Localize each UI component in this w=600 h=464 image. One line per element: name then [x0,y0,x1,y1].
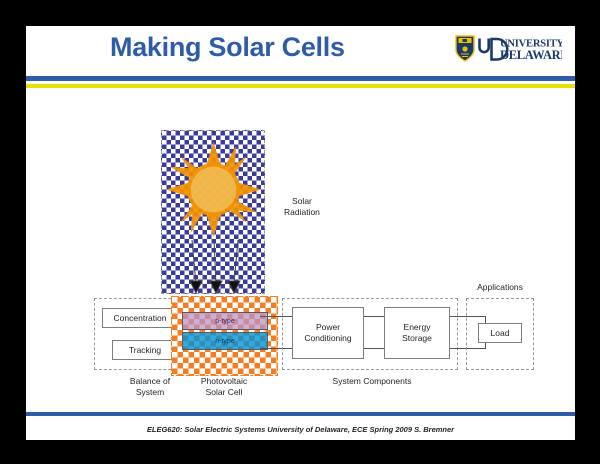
wire-pc-bottom [364,348,386,349]
load-box[interactable]: Load [478,323,522,343]
energy-storage-box[interactable]: Energy Storage [384,307,450,359]
photovoltaic-cell-line-2: Solar Cell [172,387,276,398]
concentration-box[interactable]: Concentration [102,308,178,328]
shield-icon [456,36,474,61]
system-components-caption: System Components [302,376,442,387]
photovoltaic-cell-line-1: Photovoltaic [172,376,276,387]
concentration-label: Concentration [114,313,167,324]
n-type-label: n-type [215,338,234,345]
tracking-label: Tracking [129,345,161,356]
tracking-box[interactable]: Tracking [112,340,178,360]
load-label: Load [491,328,510,339]
logo-line-2: DELAWARE [500,48,562,62]
power-conditioning-line-1: Power [316,322,340,332]
footer-text: ELEG620: Solar Electric Systems Universi… [26,425,575,434]
solar-system-diagram: Solar Radiation Concentration Track [26,92,575,402]
power-conditioning-label: Power Conditioning [304,322,351,344]
radiation-arrows [172,240,258,295]
slide-header: Making Solar Cells UNIVERSITY of [26,26,575,72]
footer-divider [26,412,575,416]
solar-radiation-line-2: Radiation [284,207,320,218]
solar-radiation-label: Solar Radiation [284,196,320,218]
wire-pc-top [364,316,386,317]
page-title: Making Solar Cells [110,32,345,63]
p-type-layer[interactable]: p-type [182,312,268,330]
solar-radiation-line-1: Solar [284,196,320,207]
presentation-slide: Making Solar Cells UNIVERSITY of [26,26,575,440]
applications-caption: Applications [462,282,538,293]
energy-storage-line-1: Energy [404,322,431,332]
energy-storage-line-2: Storage [402,333,432,343]
photovoltaic-cell-caption: Photovoltaic Solar Cell [172,376,276,398]
header-divider-gold [26,84,575,88]
university-of-delaware-logo: UNIVERSITY of DELAWARE [454,33,562,66]
energy-storage-label: Energy Storage [402,322,432,344]
n-type-layer[interactable]: n-type [182,332,268,350]
power-conditioning-box[interactable]: Power Conditioning [292,307,364,359]
power-conditioning-line-2: Conditioning [304,333,351,343]
sun-icon [166,142,261,237]
p-type-label: p-type [215,318,234,325]
